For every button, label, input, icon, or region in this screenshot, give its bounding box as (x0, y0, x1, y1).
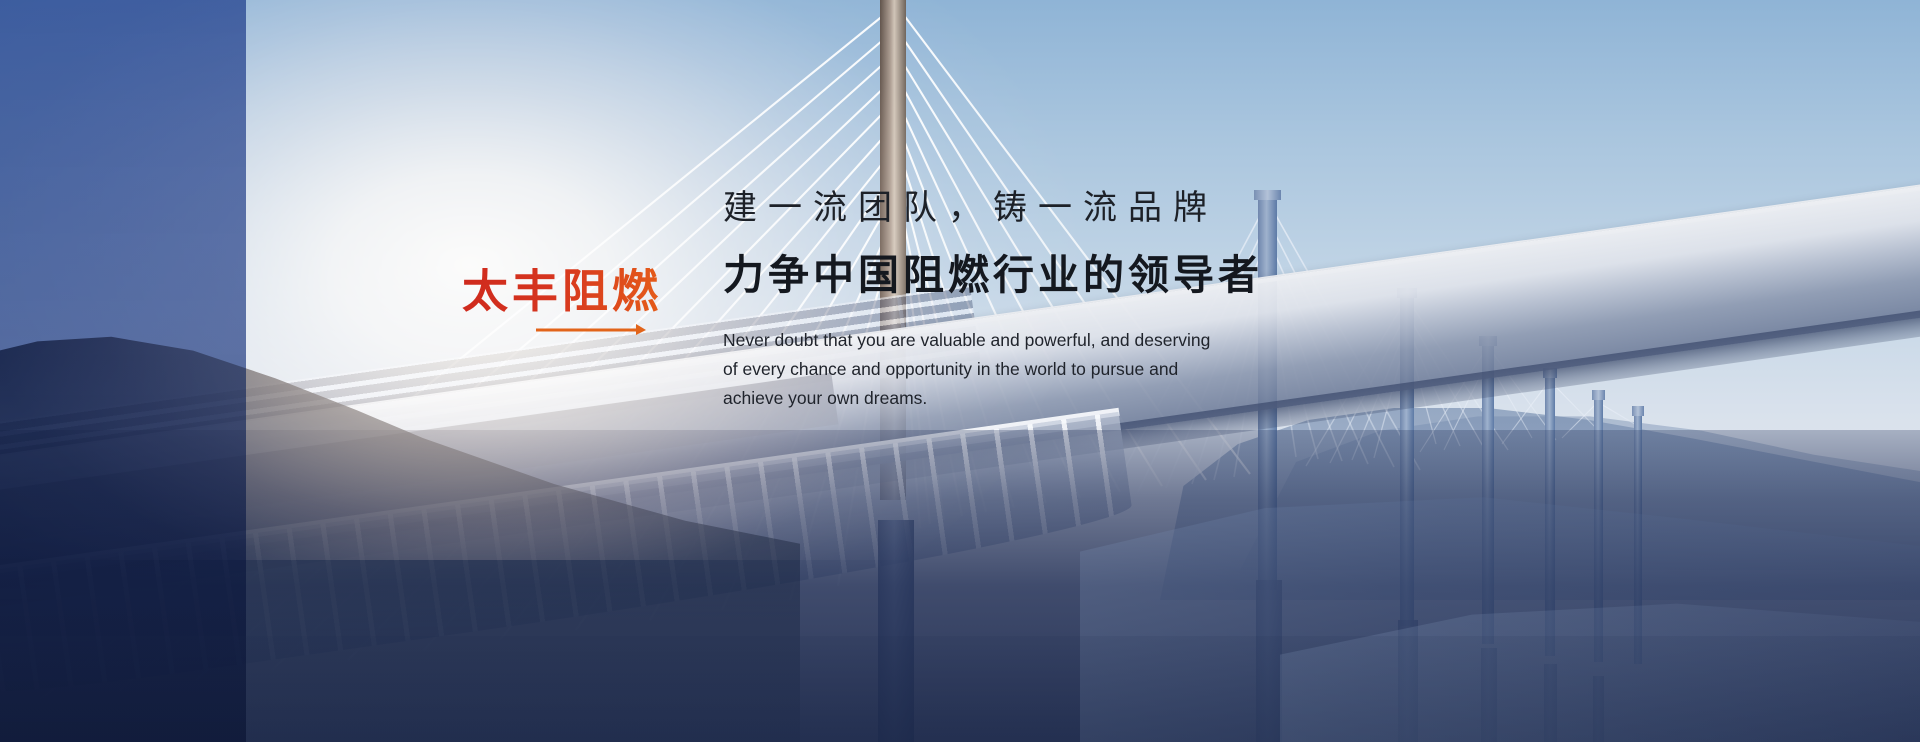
paragraph-line-1: Never doubt that you are valuable and po… (723, 326, 1303, 355)
paragraph-line-2: of every chance and opportunity in the w… (723, 355, 1303, 384)
brand-logo-text: 太丰阻燃 (462, 268, 692, 314)
hero-banner: 太丰阻燃 建一流团队，铸一流品牌 力争中国阻燃行业的领导者 Never doub… (0, 0, 1920, 742)
headline-subtitle: 建一流团队，铸一流品牌 (723, 188, 1503, 229)
brand-logo[interactable]: 太丰阻燃 (462, 268, 692, 314)
paragraph-line-3: achieve your own dreams. (723, 384, 1303, 413)
headline-title: 力争中国阻燃行业的领导者 (723, 251, 1503, 300)
banner-content: 太丰阻燃 建一流团队，铸一流品牌 力争中国阻燃行业的领导者 Never doub… (0, 0, 1920, 742)
headline-group: 建一流团队，铸一流品牌 力争中国阻燃行业的领导者 Never doubt tha… (723, 188, 1503, 413)
headline-paragraph: Never doubt that you are valuable and po… (723, 326, 1303, 413)
arrow-right-icon (536, 322, 646, 336)
